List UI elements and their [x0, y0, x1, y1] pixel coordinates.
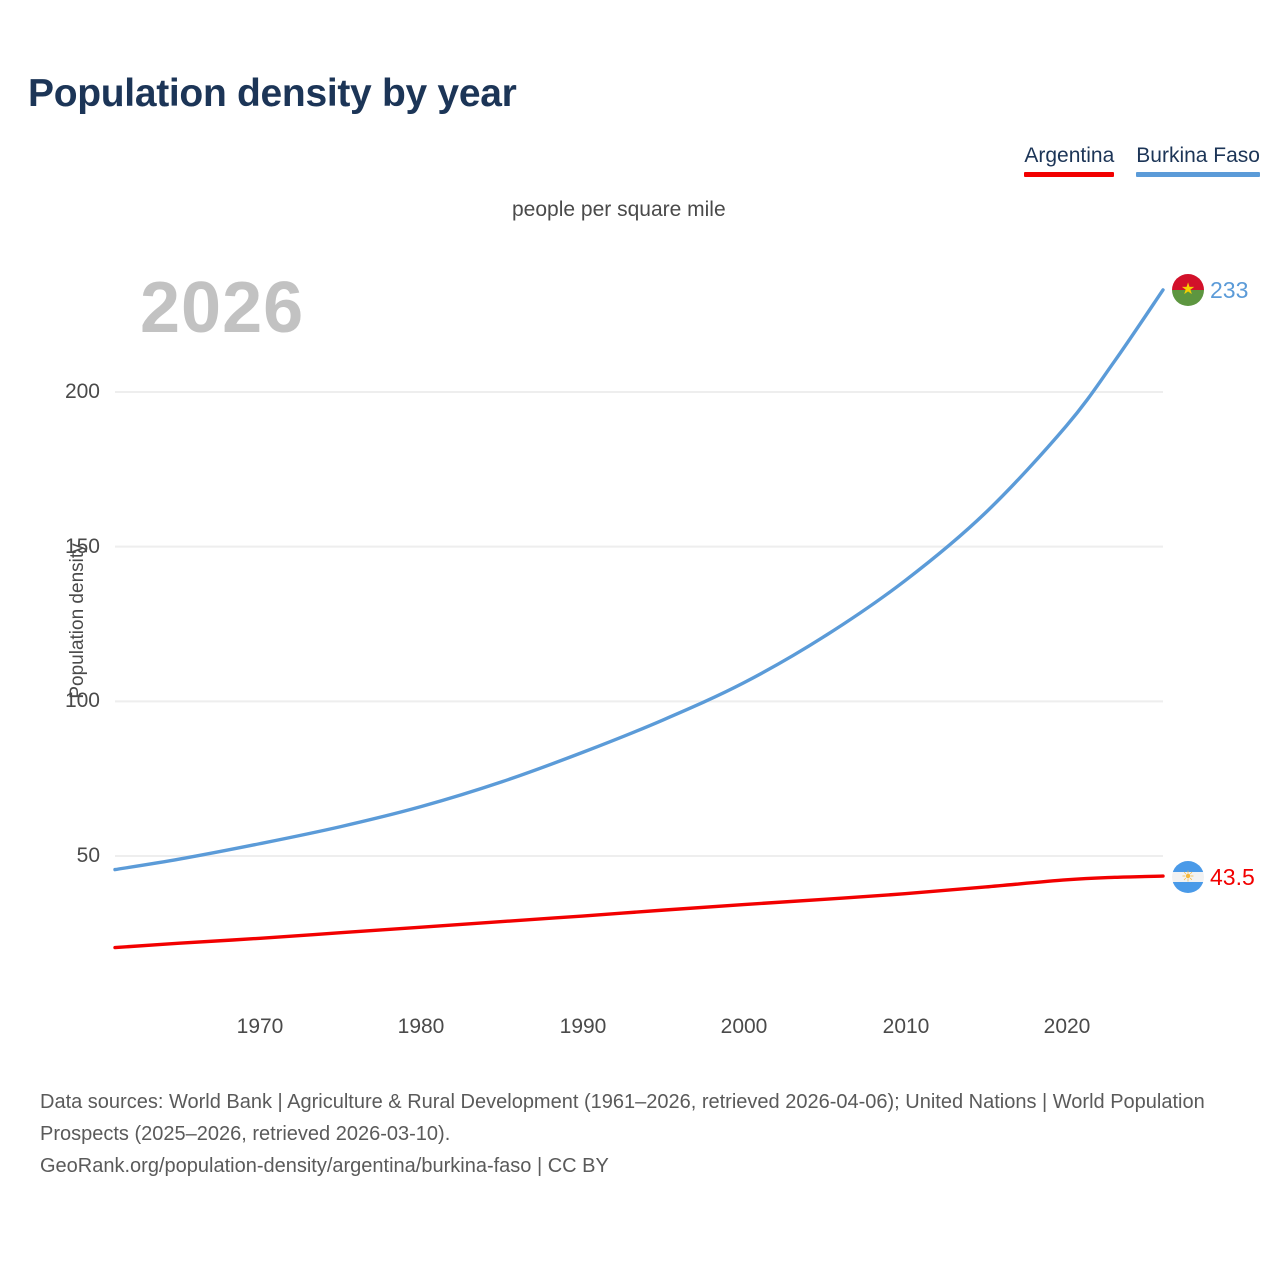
- chart-footer: Data sources: World Bank | Agriculture &…: [40, 1086, 1260, 1182]
- argentina-flag-icon: ☀: [1172, 861, 1204, 893]
- footer-data-sources: Data sources: World Bank | Agriculture &…: [40, 1086, 1260, 1150]
- footer-attribution: GeoRank.org/population-density/argentina…: [40, 1150, 1260, 1182]
- endpoint-argentina: ☀ 43.5: [1172, 861, 1255, 893]
- series-line-burkina-faso: [115, 290, 1163, 870]
- chart-page: Population density by year Argentina Bur…: [0, 0, 1280, 1280]
- endpoint-burkina-faso: ★ 233: [1172, 274, 1248, 306]
- chart-series-lines: [115, 290, 1163, 948]
- chart-gridlines: [115, 392, 1163, 856]
- burkina-faso-flag-icon: ★: [1172, 274, 1204, 306]
- endpoint-value-argentina: 43.5: [1210, 864, 1255, 891]
- endpoint-value-burkina-faso: 233: [1210, 277, 1248, 304]
- series-line-argentina: [115, 876, 1163, 947]
